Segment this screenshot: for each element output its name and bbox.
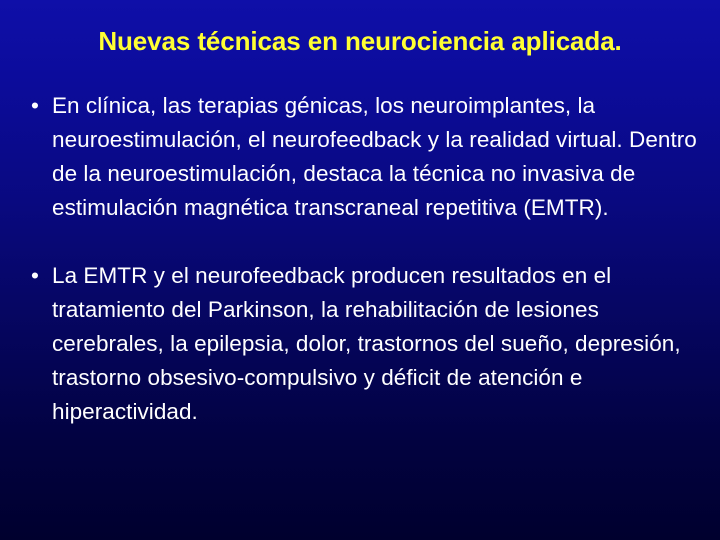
presentation-slide: Nuevas técnicas en neurociencia aplicada… [0, 0, 720, 540]
slide-title: Nuevas técnicas en neurociencia aplicada… [0, 26, 720, 56]
bullet-item: • La EMTR y el neurofeedback producen re… [26, 259, 698, 429]
bullet-text: La EMTR y el neurofeedback producen resu… [52, 259, 698, 429]
bullet-marker-icon: • [31, 89, 47, 123]
bullet-marker-icon: • [31, 259, 47, 293]
bullet-item: • En clínica, las terapias génicas, los … [26, 89, 698, 225]
bullet-text: En clínica, las terapias génicas, los ne… [52, 89, 698, 225]
paragraph-spacer [26, 225, 698, 259]
slide-body: • En clínica, las terapias génicas, los … [26, 89, 698, 429]
